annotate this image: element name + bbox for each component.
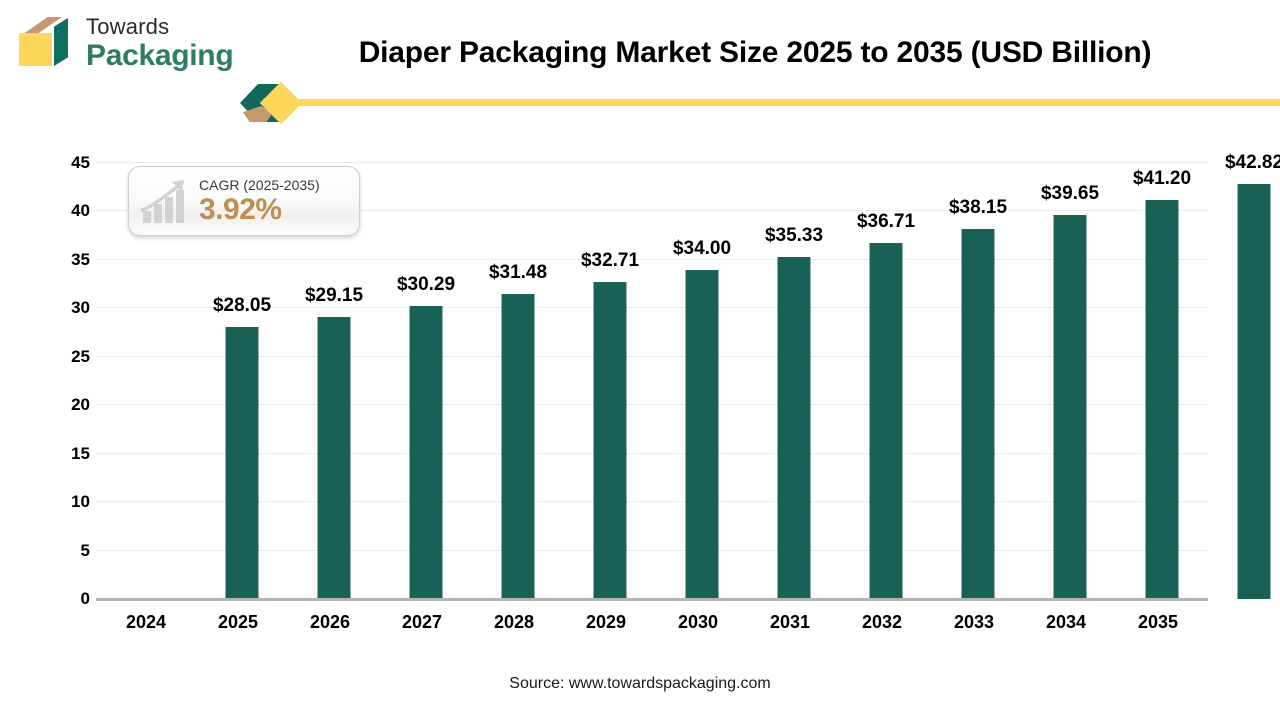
x-axis-tick-label: 2029 bbox=[560, 612, 652, 633]
bar-value-label: $38.15 bbox=[949, 197, 1007, 219]
bar[interactable] bbox=[594, 282, 627, 599]
bar-slot: $35.33 bbox=[748, 163, 840, 599]
bar[interactable] bbox=[226, 327, 259, 599]
bar-slot: $39.65 bbox=[1024, 163, 1116, 599]
y-axis-tick-label: 5 bbox=[46, 541, 90, 561]
y-axis-tick-label: 20 bbox=[46, 395, 90, 415]
cagr-badge: CAGR (2025-2035) 3.92% bbox=[128, 166, 360, 236]
bar-value-label: $32.71 bbox=[581, 250, 639, 272]
bar[interactable] bbox=[502, 294, 535, 599]
bar[interactable] bbox=[870, 243, 903, 599]
y-axis-tick-label: 35 bbox=[46, 250, 90, 270]
bar-value-label: $30.29 bbox=[397, 274, 455, 296]
bar-slot: $34.00 bbox=[656, 163, 748, 599]
y-axis-tick-label: 45 bbox=[46, 153, 90, 173]
bar-value-label: $42.82 bbox=[1225, 152, 1280, 174]
y-axis-tick-label: 10 bbox=[46, 492, 90, 512]
bar-slot: $38.15 bbox=[932, 163, 1024, 599]
x-axis-baseline bbox=[96, 598, 1208, 601]
bar-value-label: $34.00 bbox=[673, 238, 731, 260]
bar-value-label: $41.20 bbox=[1133, 168, 1191, 190]
bar-slot: $42.82 bbox=[1208, 163, 1280, 599]
cagr-caption: CAGR (2025-2035) bbox=[199, 178, 320, 192]
x-axis-tick-label: 2031 bbox=[744, 612, 836, 633]
bar[interactable] bbox=[962, 229, 995, 599]
bar[interactable] bbox=[1146, 200, 1179, 599]
x-axis-tick-label: 2034 bbox=[1020, 612, 1112, 633]
x-axis-tick-label: 2033 bbox=[928, 612, 1020, 633]
y-axis-tick-label: 30 bbox=[46, 298, 90, 318]
bar[interactable] bbox=[686, 270, 719, 599]
bar-value-label: $29.15 bbox=[305, 285, 363, 307]
bar[interactable] bbox=[318, 317, 351, 599]
bar-value-label: $28.05 bbox=[213, 295, 271, 317]
bar-slot: $31.48 bbox=[472, 163, 564, 599]
cagr-value: 3.92% bbox=[199, 195, 320, 225]
y-axis-tick-label: 15 bbox=[46, 444, 90, 464]
bar[interactable] bbox=[410, 306, 443, 599]
bar[interactable] bbox=[1054, 215, 1087, 599]
bar-value-label: $31.48 bbox=[489, 262, 547, 284]
x-axis-tick-label: 2028 bbox=[468, 612, 560, 633]
x-axis-tick-label: 2027 bbox=[376, 612, 468, 633]
x-axis-tick-label: 2024 bbox=[100, 612, 192, 633]
bar-slot: $32.71 bbox=[564, 163, 656, 599]
x-axis-tick-label: 2025 bbox=[192, 612, 284, 633]
x-axis-tick-label: 2030 bbox=[652, 612, 744, 633]
x-axis-tick-label: 2035 bbox=[1112, 612, 1204, 633]
growth-bar-chart-arrow-icon bbox=[139, 176, 195, 226]
bar[interactable] bbox=[778, 257, 811, 599]
x-axis-tick-label: 2032 bbox=[836, 612, 928, 633]
cagr-text: CAGR (2025-2035) 3.92% bbox=[199, 178, 320, 225]
bar[interactable] bbox=[1238, 184, 1271, 599]
y-axis-tick-label: 0 bbox=[46, 589, 90, 609]
y-axis-tick-label: 25 bbox=[46, 347, 90, 367]
bar-chart: 051015202530354045 $28.05$29.15$30.29$31… bbox=[0, 0, 1280, 720]
x-axis-tick-label: 2026 bbox=[284, 612, 376, 633]
source-note: Source: www.towardspackaging.com bbox=[0, 675, 1280, 693]
bar-value-label: $39.65 bbox=[1041, 183, 1099, 205]
y-axis-tick-label: 40 bbox=[46, 201, 90, 221]
y-axis: 051015202530354045 bbox=[38, 163, 90, 599]
bar-value-label: $36.71 bbox=[857, 211, 915, 233]
bar-slot: $30.29 bbox=[380, 163, 472, 599]
bar-slot: $36.71 bbox=[840, 163, 932, 599]
bar-slot: $41.20 bbox=[1116, 163, 1208, 599]
bar-value-label: $35.33 bbox=[765, 225, 823, 247]
